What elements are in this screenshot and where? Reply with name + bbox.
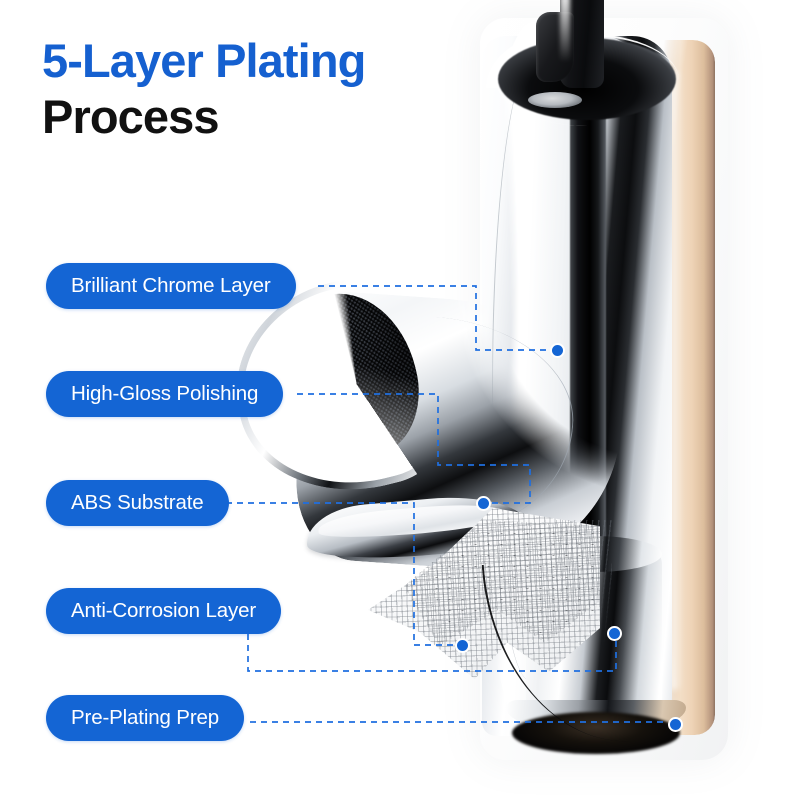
page-title-line-1: 5-Layer Plating bbox=[42, 33, 365, 89]
endpoint-dot-layer-5 bbox=[668, 717, 683, 732]
endpoint-dot-layer-2 bbox=[476, 496, 491, 511]
layer-label-brilliant-chrome-layer[interactable]: Brilliant Chrome Layer bbox=[46, 263, 296, 309]
infographic-canvas: 5-Layer Plating Process Brilliant Chrome… bbox=[0, 0, 800, 800]
page-title: 5-Layer Plating Process bbox=[42, 33, 365, 145]
body-hairline-curve bbox=[482, 555, 633, 750]
page-title-line-2: Process bbox=[42, 89, 365, 145]
layer-label-abs-substrate[interactable]: ABS Substrate bbox=[46, 480, 229, 526]
layer-label-anti-corrosion-layer[interactable]: Anti-Corrosion Layer bbox=[46, 588, 281, 634]
layer-label-high-gloss-polishing[interactable]: High-Gloss Polishing bbox=[46, 371, 283, 417]
endpoint-dot-layer-4 bbox=[607, 626, 622, 641]
layer-label-pre-plating-prep[interactable]: Pre-Plating Prep bbox=[46, 695, 244, 741]
endpoint-dot-layer-3 bbox=[455, 638, 470, 653]
endpoint-dot-layer-1 bbox=[550, 343, 565, 358]
